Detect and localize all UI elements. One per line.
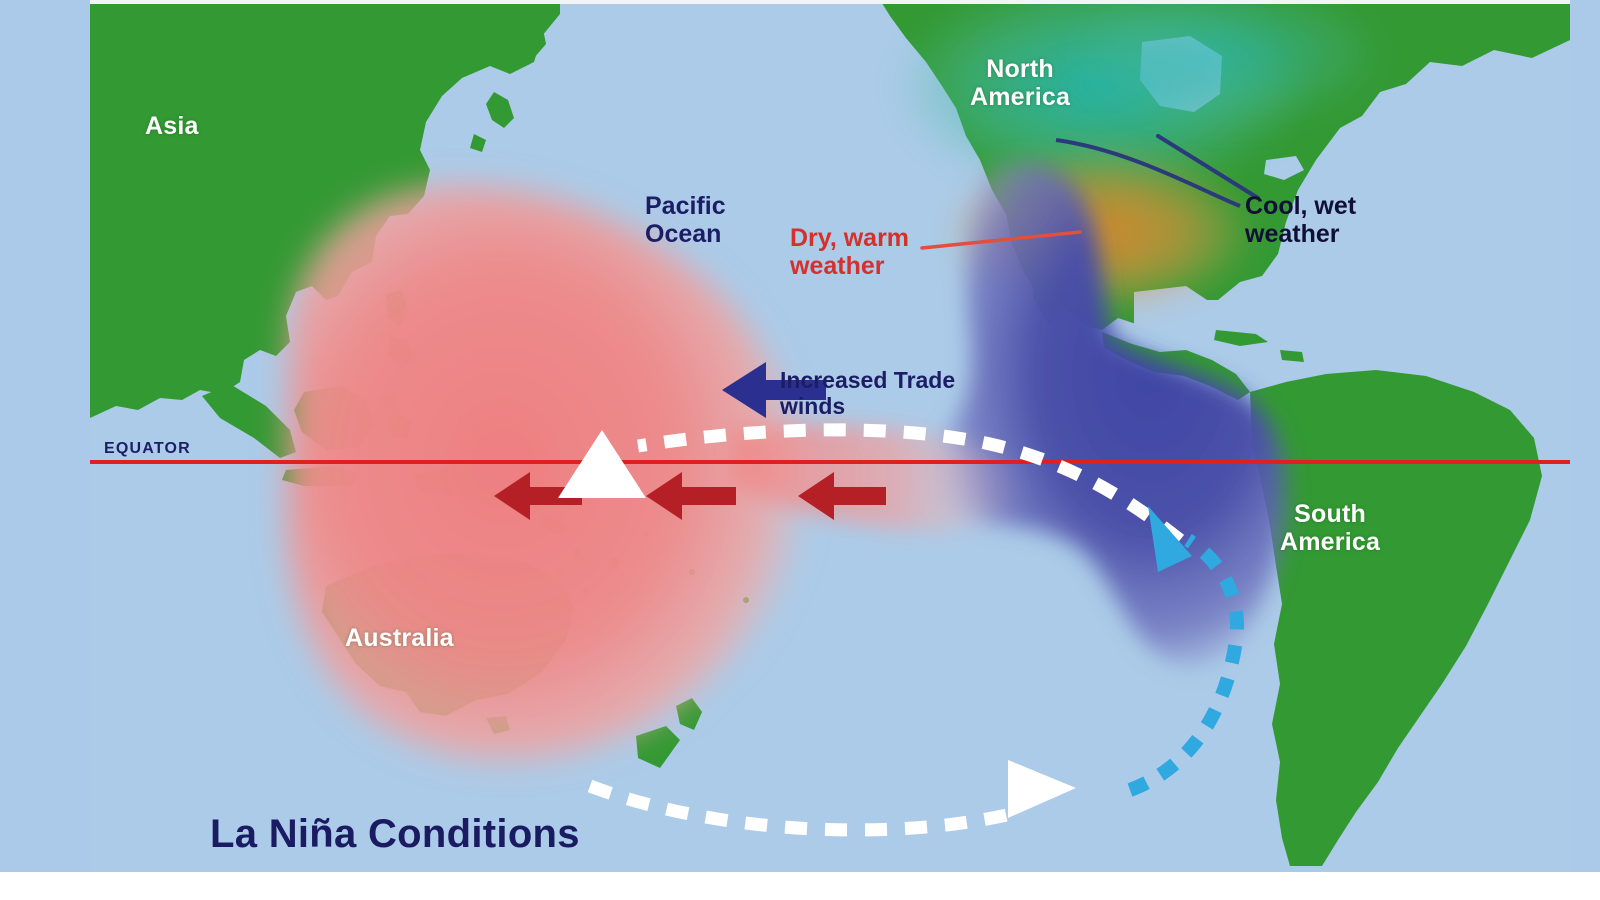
right-margin: [1570, 0, 1600, 872]
left-margin: [0, 0, 90, 872]
diagram-title: La Niña Conditions: [210, 812, 580, 857]
top-edge: [90, 0, 1570, 4]
la-nina-diagram: Asia Australia North America South Ameri…: [0, 0, 1600, 900]
map-graphics: [90, 0, 1570, 872]
bottom-edge: [0, 872, 1600, 900]
map-canvas: Asia Australia North America South Ameri…: [90, 0, 1570, 872]
